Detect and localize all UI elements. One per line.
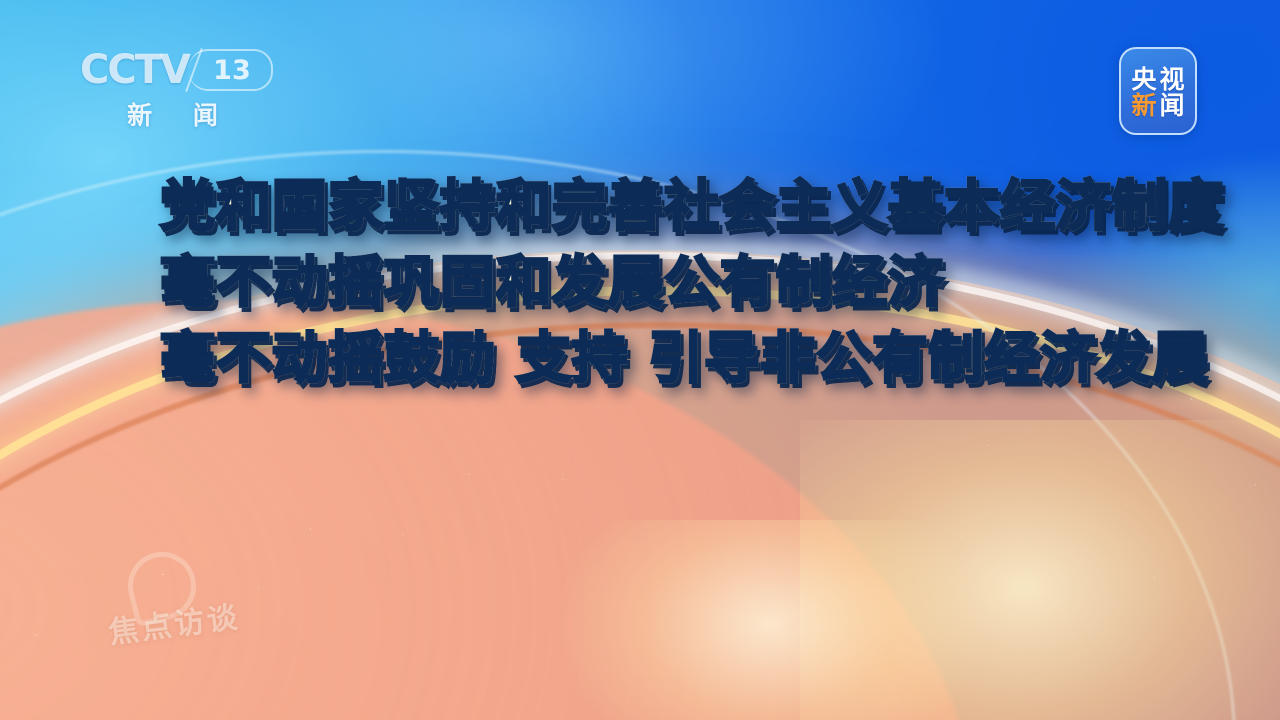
- badge-char-yang: 央: [1131, 67, 1156, 92]
- badge-char-xin: 新: [1131, 93, 1156, 118]
- badge-char-wen: 闻: [1160, 93, 1185, 118]
- cctv-letters: CCTV: [80, 50, 189, 90]
- headline-line-1: 党和国家坚持和完善社会主义基本经济制度: [160, 168, 1160, 244]
- headline-line-3: 毫不动摇鼓励 支持 引导非公有制经济发展: [160, 320, 1160, 396]
- headline-line-2: 毫不动摇巩固和发展公有制经济: [160, 244, 1160, 320]
- broadcast-frame: CCTV 13 新 闻 央 视 新 闻 党和国家坚持和完善社会主义基本经济制度 …: [0, 0, 1280, 720]
- cctv-wordmark: CCTV 13: [80, 48, 265, 92]
- news-badge-row-bottom: 新 闻: [1131, 93, 1184, 118]
- news-badge-row-top: 央 视: [1131, 67, 1184, 92]
- background-glow-bottom-center: [560, 520, 980, 720]
- badge-char-shi: 视: [1160, 67, 1185, 92]
- headline-block: 党和国家坚持和完善社会主义基本经济制度 毫不动摇巩固和发展公有制经济 毫不动摇鼓…: [160, 168, 1160, 396]
- cctv-channel-subtitle: 新 闻: [80, 96, 265, 132]
- cctv-news-badge: 央 视 新 闻: [1119, 47, 1197, 135]
- cctv-channel-number: 13: [189, 49, 273, 91]
- cctv13-channel-logo: CCTV 13 新 闻: [80, 48, 265, 138]
